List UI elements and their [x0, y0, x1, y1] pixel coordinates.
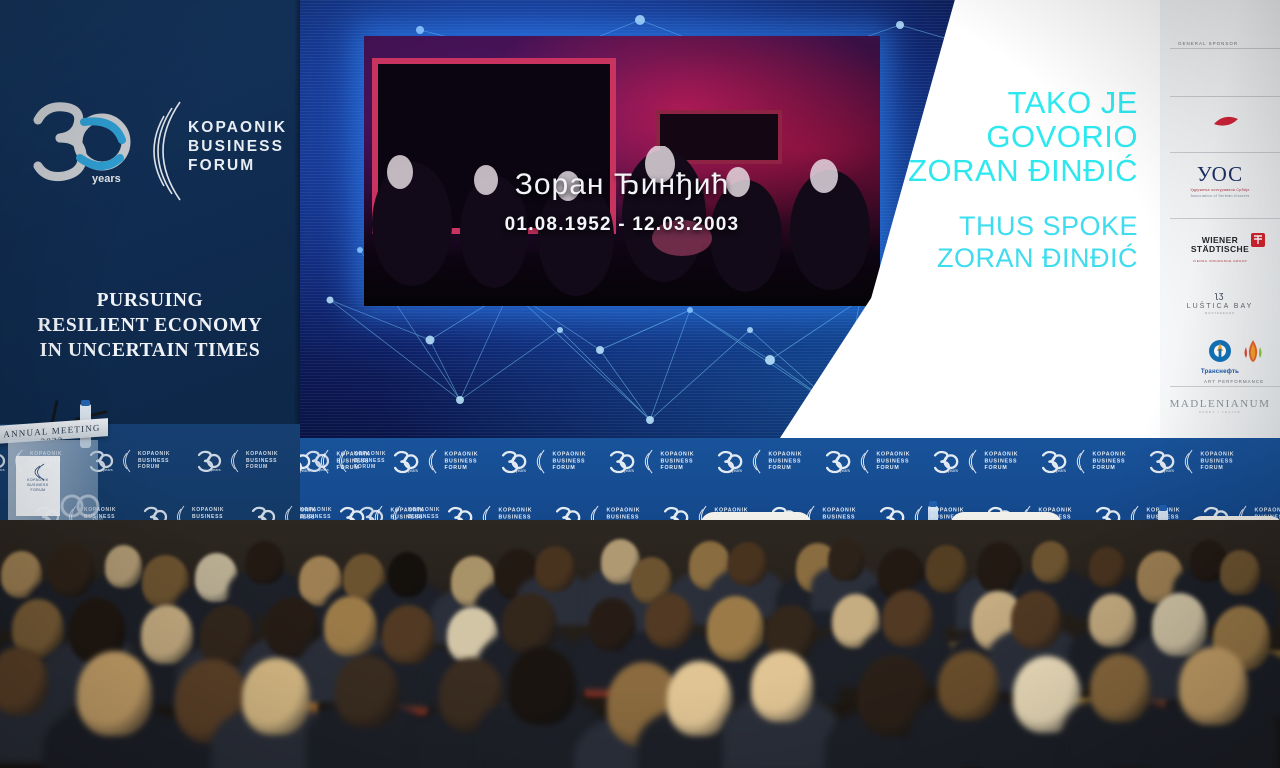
audience-head: [1032, 541, 1069, 583]
backdrop-logo: yearsKOPAONIKBUSINESSFORUM: [1148, 448, 1234, 475]
backdrop-wordmark: KOPAONIKBUSINESSFORUM: [354, 451, 386, 470]
led-presentation-screen: Зоран Ђинђић 01.08.1952 - 12.03.2003 TAK…: [300, 0, 1160, 438]
kbf-wordmark: KOPAONIK BUSINESS FORUM: [188, 118, 287, 175]
podium-bottle-cap: [81, 400, 90, 406]
slide-sr-line3: ZORAN ĐINĐIĆ: [808, 154, 1138, 188]
backdrop-thirty-icon: years: [716, 450, 743, 473]
podium-card-wordmark: KOPAONIK BUSINESS FORUM: [20, 478, 56, 493]
audience-head: [1089, 594, 1136, 647]
audience-head: [1089, 547, 1125, 588]
memorial-name: Зоран Ђинђић: [364, 168, 880, 202]
audience-head: [1011, 591, 1062, 649]
audience-head: [508, 647, 577, 725]
svg-text:years: years: [732, 468, 742, 473]
audience-head: [1152, 593, 1207, 655]
wiener-staedtische-shield-icon: [1251, 233, 1265, 247]
sponsor-wall: GENERAL SPONSOR УОС Удружење осигуравача…: [1160, 0, 1280, 438]
backdrop-thirty-icon: years: [392, 450, 419, 473]
audience-head: [1179, 647, 1248, 725]
uoc-sub-sr: Удружење осигуравача Србије: [1160, 188, 1280, 193]
audience-seating: [0, 520, 1280, 768]
tagline-line3: IN UNCERTAIN TIMES: [0, 338, 300, 363]
backdrop-wordmark: KOPAONIKBUSINESSFORUM: [246, 451, 278, 470]
svg-text:years: years: [92, 173, 121, 185]
backdrop-wordmark: KOPAONIKBUSINESSFORUM: [985, 452, 1019, 472]
audience-head: [938, 651, 999, 720]
kbf-word-line2: BUSINESS: [188, 137, 287, 156]
backdrop-wordmark: KOPAONIKBUSINESSFORUM: [138, 451, 170, 470]
kbf-word-line1: KOPAONIK: [188, 118, 287, 137]
backdrop-arcs-icon: [534, 448, 547, 475]
audience-head: [77, 651, 152, 736]
backdrop-wordmark: KOPAONIKBUSINESSFORUM: [661, 452, 695, 472]
wiener-staedtische-logo: WIENER STÄDTISCHE VIENNA INSURANCE GROUP: [1160, 236, 1280, 263]
svg-text:years: years: [319, 467, 329, 472]
podium-branded-card: KOPAONIK BUSINESS FORUM: [16, 456, 60, 516]
audience-head: [645, 593, 694, 648]
kopaonik-business-forum-logo: years KOPAONIK BUSINESS FORUM: [30, 96, 280, 206]
svg-text:years: years: [624, 468, 634, 473]
general-sponsor-label: GENERAL SPONSOR: [1178, 41, 1238, 46]
madlenianum-logo: MADLENIANUM OPERA I TEATAR: [1160, 398, 1280, 414]
ws-line2: STÄDTISCHE: [1191, 245, 1249, 254]
audience-head: [245, 541, 284, 585]
flame-icon: [1240, 338, 1266, 364]
backdrop-thirty-icon: years: [1040, 450, 1067, 473]
backdrop-logo: yearsKOPAONIKBUSINESSFORUM: [392, 448, 478, 475]
sponsor-logo-red-mark: [1160, 110, 1280, 141]
kbf-word-line3: FORUM: [188, 156, 287, 175]
conference-photo: years KOPAONIK BUSINESS FORUM PURSUING R…: [0, 0, 1280, 768]
uoc-logo: УОС Удружење осигуравача Србије Associat…: [1160, 162, 1280, 199]
slide-en-line1: THUS SPOKE: [808, 210, 1138, 242]
madlenianum-sub: OPERA I TEATAR: [1160, 410, 1280, 414]
svg-text:years: years: [948, 468, 958, 473]
audience-head: [382, 605, 434, 664]
lustica-mark-icon: ʅʒ: [1160, 290, 1280, 300]
backdrop-wordmark: KOPAONIKBUSINESSFORUM: [877, 452, 911, 472]
video-panel: Зоран Ђинђић 01.08.1952 - 12.03.2003: [364, 36, 880, 306]
forum-arcs-icon: [140, 96, 188, 206]
backdrop-logo: yearsKOPAONIKBUSINESSFORUM: [716, 448, 802, 475]
audience-head: [502, 593, 556, 655]
audience-head: [1220, 550, 1259, 595]
transneft-text: Транснефть: [1160, 369, 1280, 375]
backdrop-arcs-icon: [858, 448, 871, 475]
left-branding-pillar: years KOPAONIK BUSINESS FORUM PURSUING R…: [0, 0, 300, 440]
backdrop-wordmark: KOPAONIKBUSINESSFORUM: [769, 452, 803, 472]
slide-en-line2: ZORAN ĐINĐIĆ: [808, 242, 1138, 274]
podium-card-line3: FORUM: [20, 488, 56, 493]
backdrop-wordmark: KOPAONIKBUSINESSFORUM: [553, 452, 587, 472]
backdrop-arcs-icon: [426, 448, 439, 475]
backdrop-arcs-icon: [228, 448, 240, 474]
lustica-text: LUŠTICA BAY: [1160, 303, 1280, 310]
backdrop-wordmark: KOPAONIKBUSINESSFORUM: [1093, 452, 1127, 472]
audience-head: [242, 658, 310, 736]
backdrop-arcs-icon: [120, 448, 132, 474]
backdrop-logo: yearsKOPAONIKBUSINESSFORUM: [500, 448, 586, 475]
art-performance-label: ART PERFORMANCE: [1204, 379, 1264, 384]
audience-head: [667, 661, 733, 736]
memorial-dates: 01.08.1952 - 12.03.2003: [364, 214, 880, 236]
backdrop-logo: yearsKOPAONIKBUSINESSFORUM: [608, 448, 694, 475]
backdrop-thirty-icon: years: [824, 450, 851, 473]
event-tagline: PURSUING RESILIENT ECONOMY IN UNCERTAIN …: [0, 288, 300, 363]
svg-text:years: years: [1056, 468, 1066, 473]
backdrop-logo: yearsKOPAONIKBUSINESSFORUM: [824, 448, 910, 475]
slide-sr-line1: TAKO JE: [808, 86, 1138, 120]
backdrop-logo: yearsKOPAONIKBUSINESSFORUM: [932, 448, 1018, 475]
audience-head: [388, 552, 427, 596]
audience-head: [105, 545, 143, 588]
svg-text:years: years: [211, 467, 221, 472]
slide-sr-line2: GOVORIO: [808, 120, 1138, 154]
backdrop-arcs-icon: [1182, 448, 1195, 475]
audience-head: [335, 655, 399, 728]
backdrop-arcs-icon: [750, 448, 763, 475]
svg-text:years: years: [840, 468, 850, 473]
audience-head: [882, 590, 932, 647]
ws-sub: VIENNA INSURANCE GROUP: [1160, 259, 1280, 263]
backdrop-arcs-icon: [642, 448, 655, 475]
backdrop-thirty-icon: years: [196, 450, 222, 472]
backdrop-thirty-icon: years: [608, 450, 635, 473]
flame-sponsor-logo: [1226, 338, 1280, 369]
svg-text:years: years: [408, 468, 418, 473]
backdrop-arcs-icon: [336, 448, 348, 474]
backdrop-logo: yearsKOPAONIKBUSINESSFORUM: [196, 448, 278, 474]
svg-text:years: years: [1164, 468, 1174, 473]
audience-head: [535, 546, 575, 592]
backdrop-logo: yearsKOPAONIKBUSINESSFORUM: [304, 448, 386, 474]
audience-head: [728, 542, 767, 586]
slide-title-block: TAKO JE GOVORIO ZORAN ĐINĐIĆ THUS SPOKE …: [808, 86, 1138, 274]
tagline-line2: RESILIENT ECONOMY: [0, 313, 300, 338]
backdrop-thirty-icon: years: [932, 450, 959, 473]
lustica-sub: MONTENEGRO: [1160, 311, 1280, 315]
backdrop-arcs-icon: [1074, 448, 1087, 475]
red-swoosh-icon: [1200, 110, 1240, 136]
madlenianum-text: MADLENIANUM: [1160, 398, 1280, 410]
slide-title-serbian: TAKO JE GOVORIO ZORAN ĐINĐIĆ: [808, 86, 1138, 188]
audience-head: [828, 539, 864, 580]
thirty-years-mark-icon: years: [30, 100, 140, 190]
backdrop-thirty-icon: years: [500, 450, 527, 473]
backdrop-wordmark: KOPAONIKBUSINESSFORUM: [445, 452, 479, 472]
audience-head: [751, 651, 813, 722]
tagline-line1: PURSUING: [0, 288, 300, 313]
backdrop-logo: yearsKOPAONIKBUSINESSFORUM: [1040, 448, 1126, 475]
backdrop-thirty-icon: years: [1148, 450, 1175, 473]
uoc-mark: УОС: [1160, 162, 1280, 187]
audience-head: [1090, 654, 1150, 722]
backdrop-wordmark: KOPAONIKBUSINESSFORUM: [1201, 452, 1235, 472]
lustica-bay-logo: ʅʒ LUŠTICA BAY MONTENEGRO: [1160, 290, 1280, 315]
backdrop-thirty-icon: years: [304, 450, 330, 472]
svg-text:years: years: [516, 468, 526, 473]
backdrop-arcs-icon: [966, 448, 979, 475]
audience-head: [324, 596, 377, 656]
uoc-sub-en: Association of Serbian Insurers: [1160, 194, 1280, 199]
slide-title-english: THUS SPOKE ZORAN ĐINĐIĆ: [808, 210, 1138, 274]
